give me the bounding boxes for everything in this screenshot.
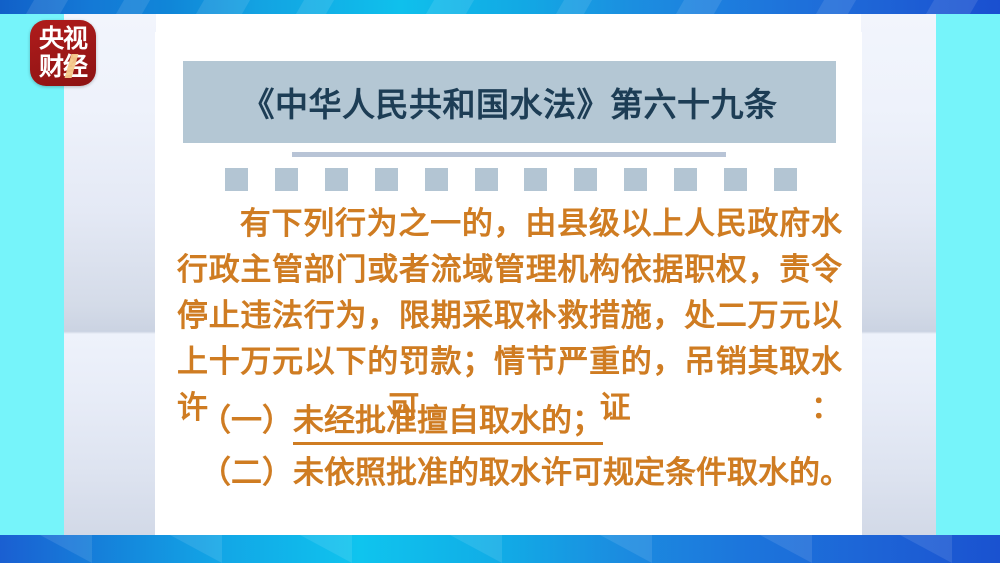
background-gradient-left	[64, 13, 156, 535]
background-cyan-left	[0, 13, 64, 535]
page-title: 《中华人民共和国水法》第六十九条	[242, 78, 778, 126]
decorative-square	[574, 168, 597, 191]
decorative-square	[524, 168, 547, 191]
background-gradient-right	[861, 13, 936, 535]
content-card: 《中华人民共和国水法》第六十九条 有下列行为之一的，由县级以上人民政府水行政主管…	[155, 32, 862, 535]
bottom-decorative-band	[0, 535, 1000, 563]
list-item: （一）未经批准擅自取水的；	[200, 395, 850, 447]
decorative-square	[325, 168, 348, 191]
law-paragraph-text: 有下列行为之一的，由县级以上人民政府水行政主管部门或者流域管理机构依据职权，责令…	[177, 206, 842, 425]
clause-marker: （二）	[200, 455, 293, 490]
logo-line-1: 央视	[39, 27, 87, 52]
clause-text: 未经批准擅自取水的；	[293, 403, 603, 445]
clause-text: 未依照批准的取水许可规定条件取水的。	[293, 455, 851, 490]
law-clause-list: （一）未经批准擅自取水的； （二）未依照批准的取水许可规定条件取水的。	[200, 395, 850, 499]
decorative-rule	[292, 152, 726, 157]
decorative-square	[624, 168, 647, 191]
background-cyan-right	[936, 13, 1000, 535]
title-band: 《中华人民共和国水法》第六十九条	[183, 61, 836, 143]
decorative-square	[674, 168, 697, 191]
decorative-square	[475, 168, 498, 191]
top-decorative-band	[0, 0, 1000, 14]
decorative-square	[724, 168, 747, 191]
decorative-square	[375, 168, 398, 191]
list-item: （二）未依照批准的取水许可规定条件取水的。	[200, 447, 850, 499]
logo-line-2: 财经	[39, 55, 87, 80]
decorative-square-row	[225, 168, 797, 191]
cctv-finance-logo: 央视 财经	[30, 20, 96, 86]
broadcast-screen: 央视 财经 《中华人民共和国水法》第六十九条 有下列行为之一的，由县级以上人民政…	[0, 0, 1000, 563]
clause-marker: （一）	[200, 403, 293, 438]
decorative-square	[425, 168, 448, 191]
decorative-square	[275, 168, 298, 191]
decorative-square	[774, 168, 797, 191]
decorative-square	[225, 168, 248, 191]
